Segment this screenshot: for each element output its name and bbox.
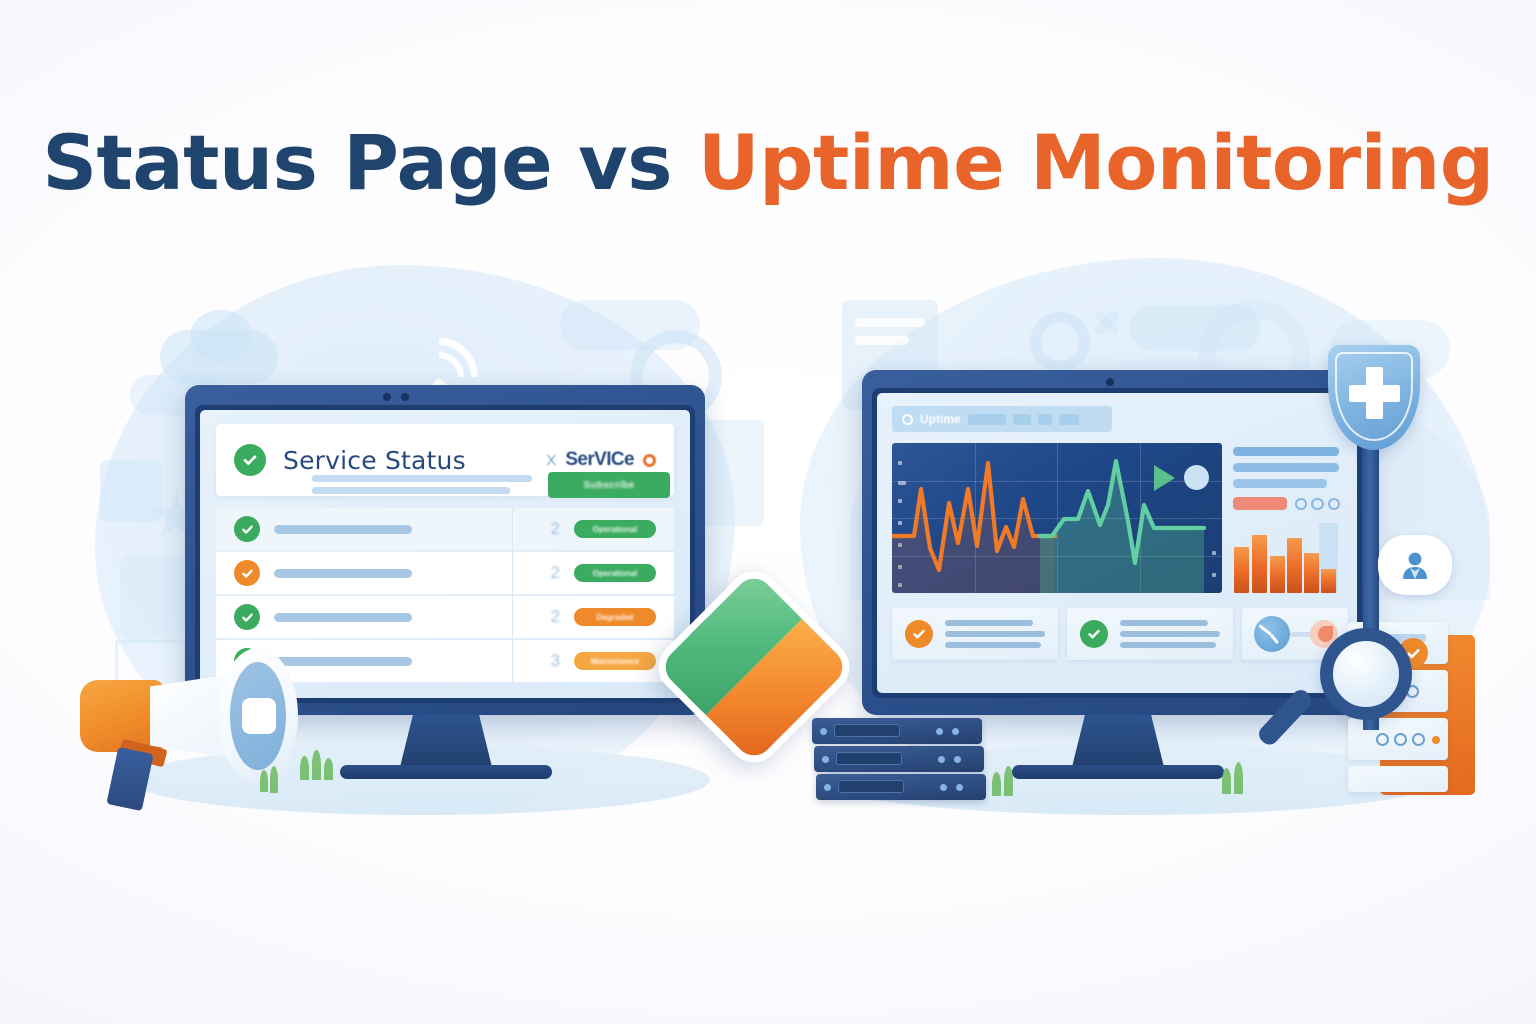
table-column-divider xyxy=(512,508,513,682)
grass-decoration xyxy=(260,770,268,792)
background-cloud-icon xyxy=(1130,305,1260,351)
shield-cross-icon xyxy=(1328,345,1420,455)
chart-marker-dot xyxy=(1184,465,1209,490)
sidebar-bar xyxy=(1233,463,1339,472)
row-count: 2 xyxy=(551,519,560,539)
camera-dot-icon xyxy=(401,393,409,401)
gauge-icon xyxy=(1254,616,1290,652)
dashboard-topbar-label: Uptime xyxy=(920,412,961,426)
page-title: Status Page vs Uptime Monitoring xyxy=(0,118,1536,207)
status-badge-label: Operational xyxy=(593,525,637,534)
status-badge-label: Operational xyxy=(593,569,637,578)
status-badge: Degraded xyxy=(574,608,656,626)
status-badge: Operational xyxy=(574,520,656,538)
uptime-line-chart xyxy=(892,443,1222,593)
bar-chart-bar xyxy=(1304,553,1319,593)
sidebar-ring-icon xyxy=(1295,498,1307,510)
status-badge-label: Degraded xyxy=(597,613,634,622)
background-puzzle-icon xyxy=(100,460,162,522)
logo-dot-icon xyxy=(643,454,656,467)
check-circle-green-icon xyxy=(234,516,260,542)
logo-x-mark: X xyxy=(546,452,556,469)
megaphone-icon xyxy=(70,640,320,800)
header-placeholder-bar xyxy=(312,487,510,494)
check-circle-orange-icon xyxy=(905,620,933,648)
background-panel-icon xyxy=(855,336,909,345)
subscribe-button[interactable]: Subscribe xyxy=(548,472,670,498)
grass-decoration xyxy=(992,772,1001,796)
table-row[interactable]: 2 Degraded xyxy=(216,596,674,638)
monitor-stand-neck xyxy=(400,715,492,767)
status-badge-label: Maintenance xyxy=(591,657,639,666)
sidebar-bar xyxy=(1233,479,1327,488)
stat-card[interactable] xyxy=(1067,608,1233,660)
grass-decoration xyxy=(1234,762,1243,794)
grass-decoration xyxy=(324,758,333,780)
bar-chart-bar xyxy=(1321,569,1336,593)
row-count: 2 xyxy=(551,607,560,627)
bar-chart-bar xyxy=(1287,538,1302,593)
page-title-right: Uptime Monitoring xyxy=(698,118,1494,207)
status-badge: Operational xyxy=(574,564,656,582)
table-row[interactable]: 2 Operational xyxy=(216,508,674,550)
table-row[interactable]: 2 Operational xyxy=(216,552,674,594)
sidebar-ring-icon xyxy=(1328,498,1340,510)
service-logo: X SerVICe xyxy=(546,449,656,471)
check-circle-green-icon xyxy=(234,444,266,476)
monitor-stand-neck xyxy=(1072,715,1164,767)
bar-chart-bar xyxy=(1234,547,1249,593)
row-count: 3 xyxy=(551,651,560,671)
bar-chart-bar xyxy=(1270,556,1285,593)
background-gear-icon xyxy=(1030,312,1090,372)
server-stack-icon xyxy=(812,718,987,808)
service-status-title: Service Status xyxy=(283,446,466,475)
support-agent-icon xyxy=(1378,535,1452,595)
logo-text: SerVICe xyxy=(565,449,634,471)
page-title-left: Status Page vs xyxy=(42,118,698,207)
uptime-dashboard-screen: Uptime xyxy=(877,393,1357,693)
stat-card[interactable] xyxy=(892,608,1058,660)
play-icon[interactable] xyxy=(1154,465,1175,491)
sidebar-bar xyxy=(1233,447,1339,456)
grass-decoration xyxy=(270,766,278,793)
monitor-stand-base xyxy=(340,765,552,779)
status-ring-icon xyxy=(902,414,913,425)
magnifier-icon xyxy=(1288,618,1438,778)
row-count: 2 xyxy=(551,563,560,583)
dashboard-topbar: Uptime xyxy=(892,406,1112,432)
background-cloud-icon xyxy=(190,310,252,362)
grass-decoration xyxy=(1004,766,1013,796)
background-panel-icon xyxy=(855,318,925,327)
background-cloud-icon xyxy=(560,300,700,350)
header-placeholder-bar xyxy=(312,475,532,482)
check-circle-green-icon xyxy=(234,604,260,630)
camera-dot-icon xyxy=(383,393,391,401)
dashboard-sidebar xyxy=(1233,443,1345,593)
illustration-canvas: Status Page vs Uptime Monitoring xyxy=(0,0,1536,1024)
check-circle-orange-icon xyxy=(234,560,260,586)
camera-dot-icon xyxy=(1106,378,1114,386)
agent-glyph-icon xyxy=(1398,550,1432,580)
sidebar-ring-icon xyxy=(1311,498,1324,510)
status-badge: Maintenance xyxy=(574,652,656,670)
subscribe-button-label: Subscribe xyxy=(583,480,634,491)
sidebar-alert-bar xyxy=(1233,497,1287,510)
bar-chart-bar xyxy=(1252,535,1267,593)
monitor-stand-base xyxy=(1012,765,1224,779)
check-circle-green-icon xyxy=(1080,620,1108,648)
grass-decoration xyxy=(1222,768,1231,794)
